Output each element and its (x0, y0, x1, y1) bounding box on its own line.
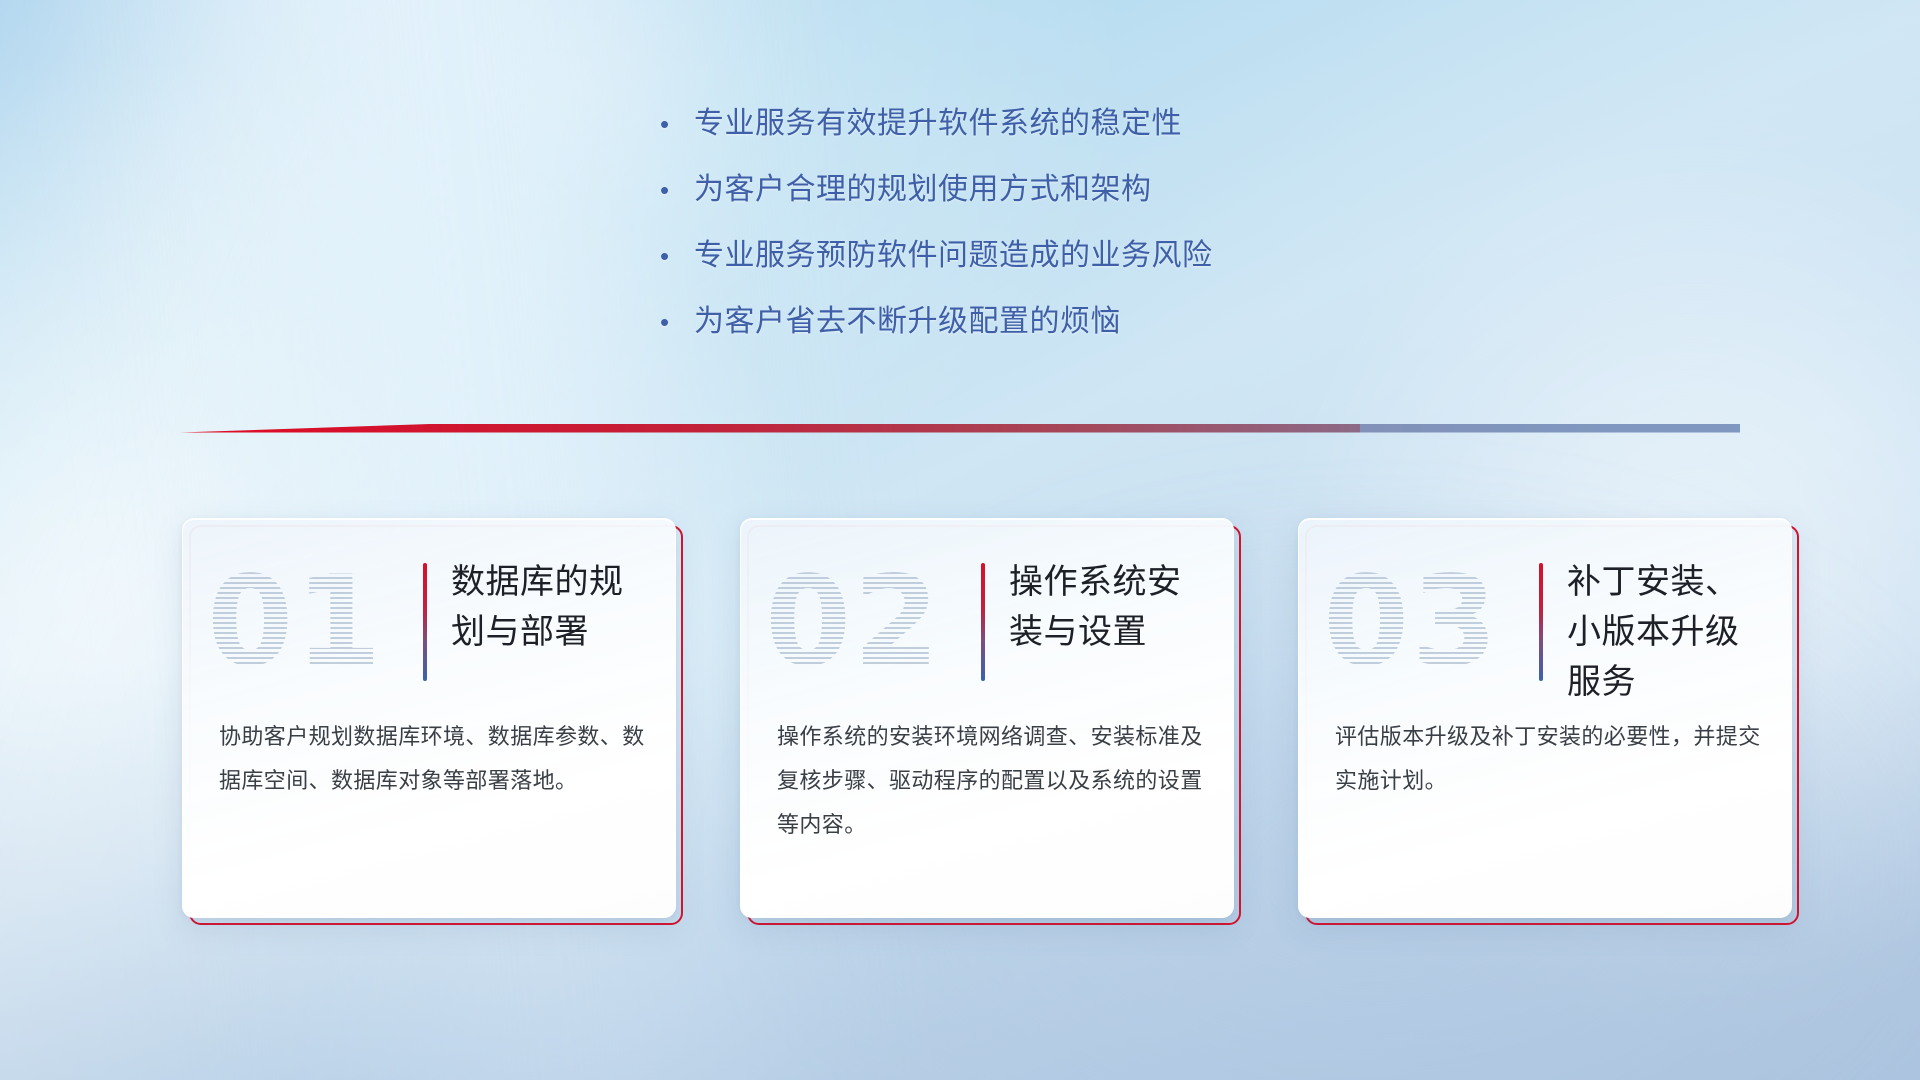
accent-bar-icon (981, 563, 985, 681)
accent-bar-icon (1539, 563, 1543, 681)
divider-shape-icon (180, 418, 1740, 444)
slide-root: • 专业服务有效提升软件系统的稳定性 • 为客户合理的规划使用方式和架构 • 专… (0, 0, 1920, 1080)
card-header: 操作系统安装与设置 (981, 557, 1215, 681)
card-description: 协助客户规划数据库环境、数据库参数、数据库空间、数据库对象等部署落地。 (219, 715, 645, 803)
card-panel: 02 操作系统安装与设置 操作系统的安装环境网络调查、安装标准及复核步骤、驱动程… (740, 518, 1234, 918)
card-title: 补丁安装、小版本升级服务 (1567, 557, 1773, 707)
card-number-text: 03 (1323, 547, 1533, 697)
service-cards-row: 01 数据库的规划与部署 协助客户规划数据库环境、数据库参数、数据库空间、数据库… (182, 518, 1792, 918)
bullet-dot-icon: • (660, 302, 694, 342)
list-item: • 专业服务预防软件问题造成的业务风险 (660, 236, 1520, 276)
bullet-text-1: 专业服务有效提升软件系统的稳定性 (694, 104, 1520, 144)
bullet-dot-icon: • (660, 170, 694, 210)
benefits-bullet-list: • 专业服务有效提升软件系统的稳定性 • 为客户合理的规划使用方式和架构 • 专… (660, 104, 1520, 368)
list-item: • 专业服务有效提升软件系统的稳定性 (660, 104, 1520, 144)
card-title: 操作系统安装与设置 (1009, 557, 1215, 657)
card-panel: 01 数据库的规划与部署 协助客户规划数据库环境、数据库参数、数据库空间、数据库… (182, 518, 676, 918)
card-number-text: 02 (765, 547, 975, 697)
card-header: 数据库的规划与部署 (423, 557, 657, 681)
card-watermark-number: 02 (765, 547, 975, 697)
card-title: 数据库的规划与部署 (451, 557, 657, 657)
bullet-text-4: 为客户省去不断升级配置的烦恼 (694, 302, 1520, 342)
card-watermark-number: 03 (1323, 547, 1533, 697)
list-item: • 为客户省去不断升级配置的烦恼 (660, 302, 1520, 342)
card-number-text: 01 (207, 547, 417, 697)
card-panel: 03 补丁安装、小版本升级服务 评估版本升级及补丁安装的必要性，并提交实施计划。 (1298, 518, 1792, 918)
card-description: 评估版本升级及补丁安装的必要性，并提交实施计划。 (1335, 715, 1761, 803)
card-header: 补丁安装、小版本升级服务 (1539, 557, 1773, 707)
bullet-dot-icon: • (660, 236, 694, 276)
list-item: • 为客户合理的规划使用方式和架构 (660, 170, 1520, 210)
service-card-02[interactable]: 02 操作系统安装与设置 操作系统的安装环境网络调查、安装标准及复核步骤、驱动程… (740, 518, 1234, 918)
card-description: 操作系统的安装环境网络调查、安装标准及复核步骤、驱动程序的配置以及系统的设置等内… (777, 715, 1203, 847)
divider-rule (180, 418, 1740, 444)
service-card-01[interactable]: 01 数据库的规划与部署 协助客户规划数据库环境、数据库参数、数据库空间、数据库… (182, 518, 676, 918)
bullet-text-3: 专业服务预防软件问题造成的业务风险 (694, 236, 1520, 276)
bullet-dot-icon: • (660, 104, 694, 144)
card-watermark-number: 01 (207, 547, 417, 697)
accent-bar-icon (423, 563, 427, 681)
bullet-text-2: 为客户合理的规划使用方式和架构 (694, 170, 1520, 210)
service-card-03[interactable]: 03 补丁安装、小版本升级服务 评估版本升级及补丁安装的必要性，并提交实施计划。 (1298, 518, 1792, 918)
